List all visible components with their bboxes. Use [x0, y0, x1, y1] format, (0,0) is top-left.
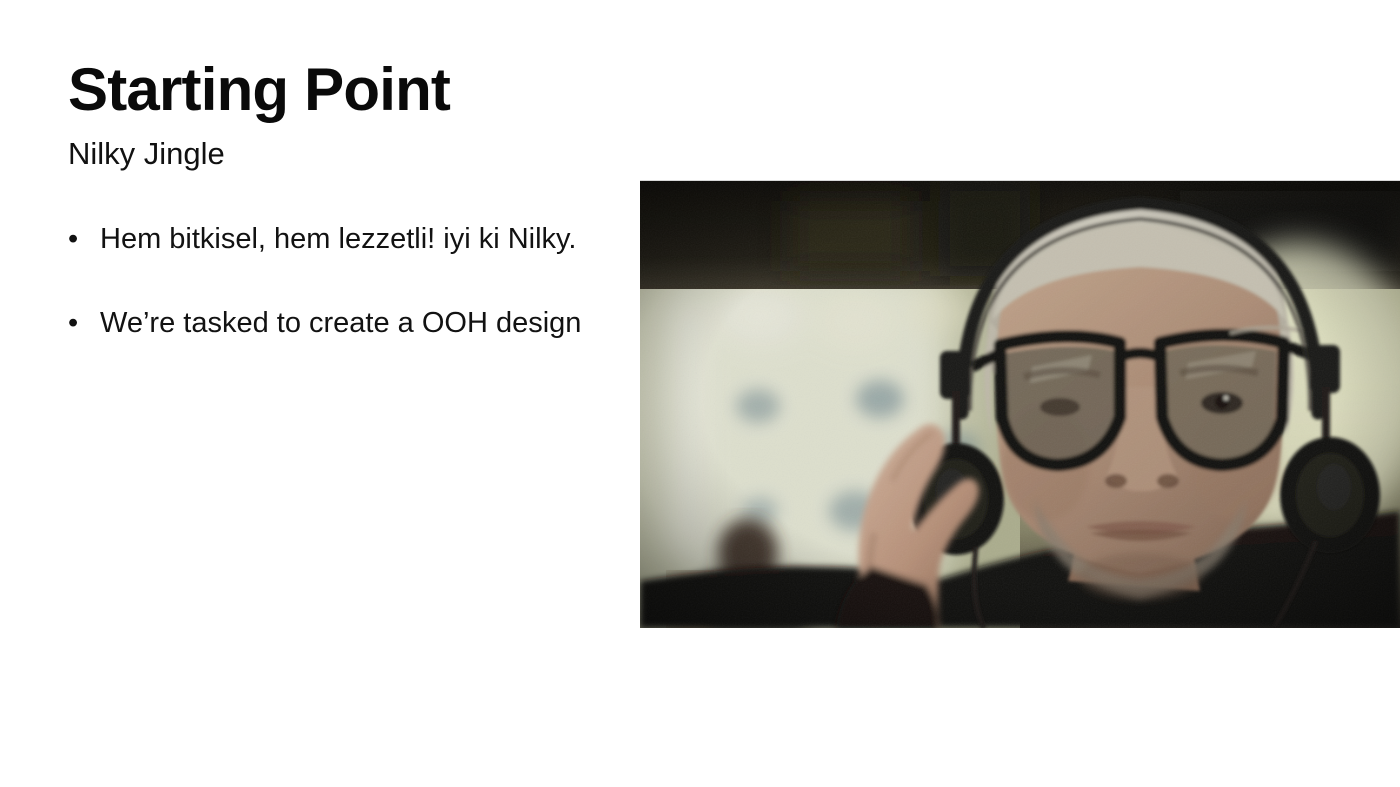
list-spacer [68, 258, 608, 304]
bullet-list: • Hem bitkisel, hem lezzetli! iyi ki Nil… [68, 220, 608, 343]
page-subtitle: Nilky Jingle [68, 135, 608, 172]
slide-photo [640, 180, 1400, 628]
page-title: Starting Point [68, 58, 608, 121]
list-item-label: We’re tasked to create a OOH design [100, 307, 581, 339]
photo-artwork [640, 181, 1400, 628]
text-column: Starting Point Nilky Jingle • Hem bitkis… [68, 58, 608, 343]
bullet-point-icon: • [68, 220, 78, 258]
slide-canvas: Starting Point Nilky Jingle • Hem bitkis… [0, 0, 1400, 787]
list-item: • We’re tasked to create a OOH design [68, 304, 608, 342]
list-item-label: Hem bitkisel, hem lezzetli! iyi ki Nilky… [100, 223, 576, 255]
list-item: • Hem bitkisel, hem lezzetli! iyi ki Nil… [68, 220, 608, 258]
bullet-point-icon: • [68, 304, 78, 342]
